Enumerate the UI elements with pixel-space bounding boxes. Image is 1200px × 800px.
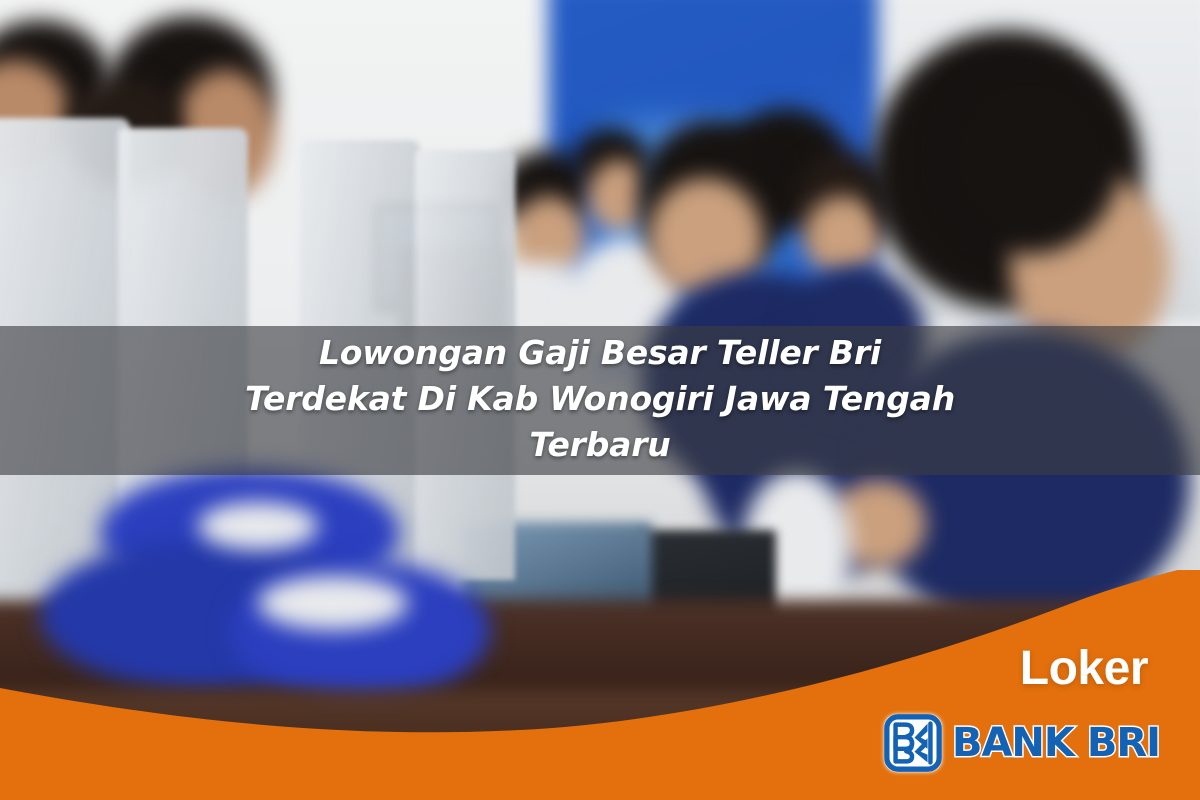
bri-wordmark: BANK BRI [952, 723, 1160, 763]
bri-logo-mark [882, 712, 944, 774]
loker-badge: Loker [1020, 645, 1148, 693]
document-blob [198, 502, 318, 550]
bri-logo-lockup: BANK BRI [882, 712, 1160, 774]
page-title: Lowongan Gaji Besar Teller Bri Terdekat … [0, 330, 1200, 468]
promo-banner: ... ... [0, 0, 1200, 800]
